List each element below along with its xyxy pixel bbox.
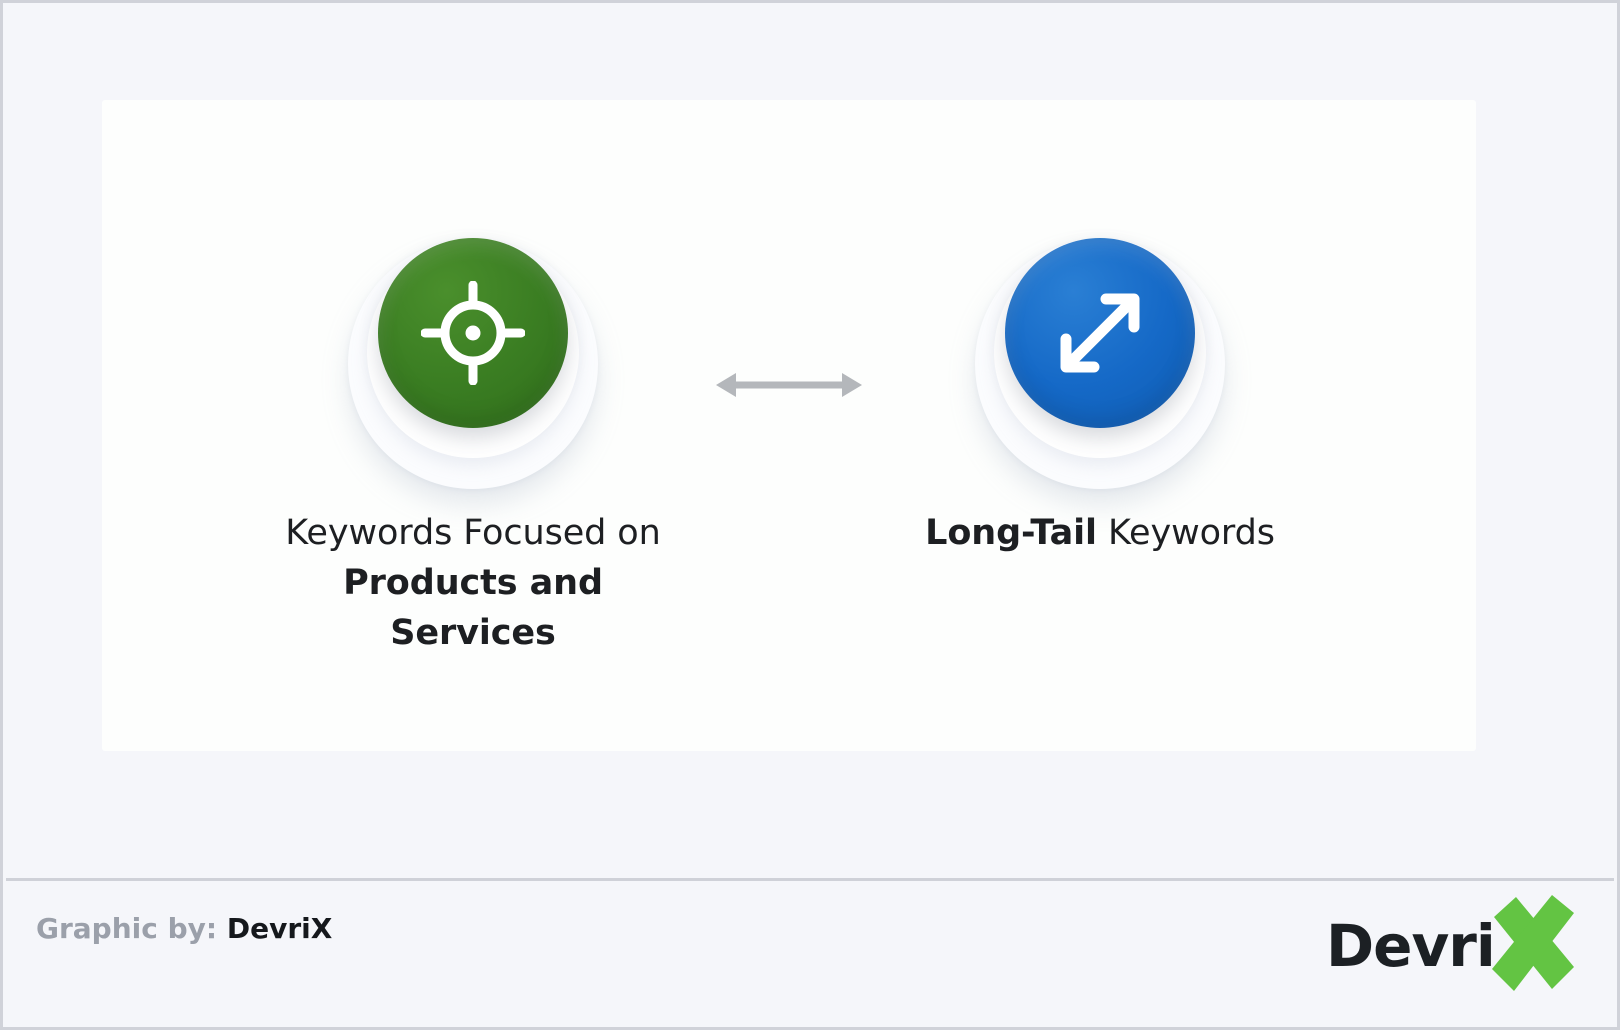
panel-group: Keywords Focused on Products and Service… [102,100,1476,751]
label-regular: Keywords [1108,513,1275,553]
content-card: Keywords Focused on Products and Service… [102,100,1476,751]
panel-products-services: Keywords Focused on Products and Service… [263,228,683,658]
label-bold: Long-Tail [925,513,1097,553]
graphic-credit: Graphic by: DevriX [36,909,332,949]
label-line-regular: Keywords Focused on [263,508,683,558]
logo-wordmark: Devri [1326,915,1495,977]
badge-wrap-products-services [343,228,603,488]
badge-wrap-long-tail [970,228,1230,488]
connector-arrow [714,370,864,400]
badge-circle-blue[interactable] [1005,238,1195,428]
infographic-page: Keywords Focused on Products and Service… [0,0,1620,1030]
label-space [1097,513,1108,553]
footer-bar: Graphic by: DevriX Devri [6,881,1614,1027]
credit-brand: DevriX [227,912,332,945]
logo-x-mark-icon [1482,895,1584,995]
double-headed-arrow-icon [714,385,864,404]
devrix-logo[interactable]: Devri [1326,895,1586,995]
diagonal-expand-arrow-icon [1048,281,1152,385]
badge-circle-green[interactable] [378,238,568,428]
label-line-bold: Products and Services [263,558,683,658]
credit-space [217,912,227,945]
panel-label-products-services: Keywords Focused on Products and Service… [263,508,683,658]
crosshair-target-icon [421,281,525,385]
panel-long-tail: Long-Tail Keywords [890,228,1310,558]
panel-label-long-tail: Long-Tail Keywords [890,508,1310,558]
credit-prefix: Graphic by: [36,912,217,945]
